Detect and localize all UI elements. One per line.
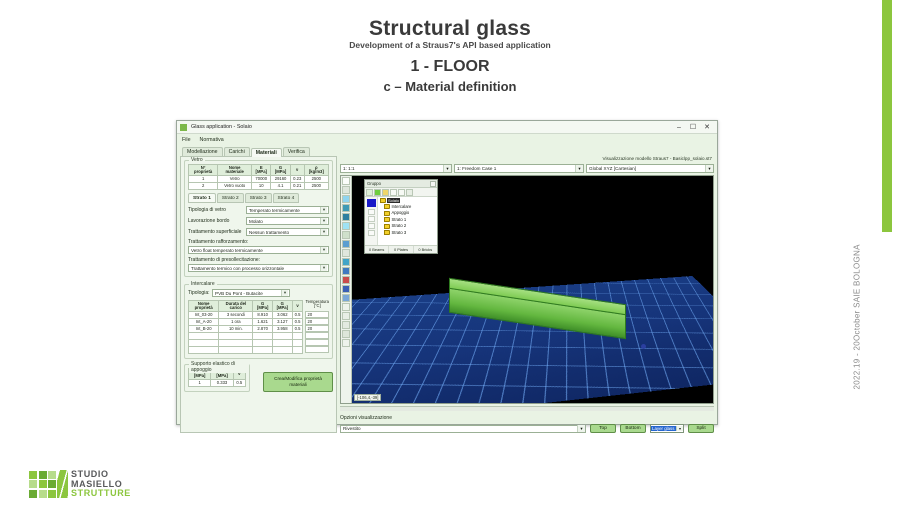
table-row[interactable]: 10.3330.5 [189, 380, 246, 387]
close-button[interactable]: ✕ [700, 122, 714, 133]
interlayer-group: Intercalare Tipologia: PVB Du Pont - But… [184, 284, 333, 359]
zoom-icon[interactable] [342, 312, 350, 320]
table-row[interactable]: 1Vetro70000291600.232500 [189, 176, 329, 183]
interlayer-cell-empty[interactable] [272, 347, 292, 354]
temperature-cell[interactable]: 20 [305, 311, 329, 318]
interlayer-cell-empty[interactable] [292, 333, 303, 340]
interlayer-cell-empty[interactable] [272, 333, 292, 340]
temperature-cell-empty[interactable] [305, 332, 329, 339]
refresh-icon[interactable] [374, 189, 381, 196]
glass-field-2-value: Nessun trattamento [249, 230, 320, 235]
page-subtitle: Development of a Straus7's API based app… [0, 40, 900, 50]
glass-field-3-value: Vetro float temperato termicamente [191, 248, 320, 253]
coordinate-system-combo[interactable]: Global XYZ [Cartesian] ▾ [586, 164, 714, 173]
interlayer-cell-empty[interactable] [292, 340, 303, 347]
view-icon[interactable] [342, 339, 350, 347]
layer-tab-1[interactable]: Strato 1 [188, 193, 216, 203]
interlayer-header-3: G[MPa] [272, 301, 292, 312]
glass-group-legend: Vetro [189, 157, 205, 163]
coordinate-system-value: Global XYZ [Cartesian] [589, 166, 705, 171]
table-row[interactable]: Int_A-201 ora1.6213.1270.5 [189, 319, 303, 326]
interlayer-header-0: Nomeproprietà [189, 301, 219, 312]
layer-select-value: Layer glass [651, 426, 676, 431]
support-group: Supporto elastico di appoggio E[MPa]G[MP… [184, 364, 250, 392]
glass-header-1: Nomemateriale [218, 165, 252, 176]
glass-header-3: G[MPa] [271, 165, 290, 176]
beam-icon[interactable] [342, 195, 350, 203]
chevron-down-icon[interactable]: ▾ [705, 165, 713, 172]
interlayer-cell[interactable]: 1 ora [219, 319, 253, 326]
materials-panel: Vetro N°proprietàNomematerialeE[MPa]G[MP… [180, 156, 337, 433]
expand-icon[interactable] [368, 223, 375, 229]
interlayer-cell[interactable]: 3.958 [272, 326, 292, 333]
glass-cell[interactable]: Vetro [218, 176, 252, 183]
glass-field-4-label: Trattamento di presollecitazione: [188, 257, 329, 263]
glass-cell[interactable]: 2500 [304, 176, 328, 183]
table-row-empty[interactable] [189, 347, 303, 354]
viewer-toolbar: 1: 1:1 ▾ 1: Freedom Case 1 ▾ Global XYZ … [340, 164, 714, 173]
view-case-value: 1: 1:1 [343, 166, 443, 171]
interlayer-cell-empty[interactable] [253, 333, 273, 340]
interlayer-cell[interactable]: 1.621 [253, 319, 273, 326]
display-options-combo[interactable]: Rivestito ▾ [340, 425, 586, 433]
logo-line-3: STRUTTURE [71, 489, 131, 499]
model-caption: Visualizzazione modello Straus7 - Basicl… [340, 156, 714, 162]
glass-field-3-combo[interactable]: Vetro float temperato termicamente▾ [188, 246, 329, 254]
glass-field-0-row: Tipologia di vetroTemperato termicamente… [188, 206, 329, 214]
temperature-cell-empty[interactable] [305, 339, 329, 346]
folder-icon [384, 204, 390, 209]
interlayer-header-1: Durata delcarico [219, 301, 253, 312]
group-icon[interactable] [342, 267, 350, 275]
chevron-down-icon[interactable]: ▾ [320, 218, 327, 224]
interlayer-group-legend: Intercalare [189, 281, 217, 287]
glass-header-2: E[MPa] [252, 165, 271, 176]
chevron-down-icon[interactable]: ▾ [320, 265, 327, 271]
collapse-icon[interactable] [368, 230, 375, 236]
glass-properties-table[interactable]: N°proprietàNomematerialeE[MPa]G[MPa]νρ[k… [188, 164, 329, 190]
top-button[interactable]: Top [590, 424, 616, 433]
tab-carichi[interactable]: Carichi [224, 147, 250, 157]
logo-slash-icon [57, 470, 68, 498]
tree-root[interactable]: Solaio [380, 198, 437, 203]
interlayer-cell[interactable]: 0.5 [292, 326, 303, 333]
logo-grid-icon [29, 471, 56, 498]
beams-count: 0 Beams [365, 246, 389, 253]
link-icon[interactable] [342, 222, 350, 230]
interlayer-type-value: PVB Du Pont - Butacite [215, 291, 281, 296]
chevron-down-icon[interactable]: ▾ [443, 165, 451, 172]
support-cell[interactable]: 0.333 [211, 380, 233, 387]
glass-header-0: N°proprietà [189, 165, 218, 176]
glass-group: Vetro N°proprietàNomematerialeE[MPa]G[MP… [184, 160, 333, 277]
viewport-horizontal-scrollbar[interactable] [340, 406, 714, 411]
main-tabstrip: Modellazione Carichi Materiali Verifica [177, 145, 717, 156]
interlayer-table[interactable]: NomeproprietàDurata delcaricoG[MPa]G[MPa… [188, 300, 303, 354]
group-tree-status: 0 Beams 0 Plates 0 Bricks [365, 245, 437, 253]
glass-field-1-value: Molato [249, 219, 320, 224]
display-options-value: Rivestito [343, 426, 577, 431]
glass-field-4-block: Trattamento di presollecitazione:Trattam… [188, 257, 329, 272]
glass-field-1-row: Lavorazione bordoMolato▾ [188, 217, 329, 225]
temperature-cell-empty[interactable] [305, 346, 329, 353]
pan-icon[interactable] [342, 321, 350, 329]
chevron-down-icon[interactable]: ▾ [320, 207, 327, 213]
interlayer-header-2: G[MPa] [253, 301, 273, 312]
group-tree-items: Solaio IntercalareAppoggioStrato 1Strato… [378, 197, 437, 245]
application-window: Glass application - Solaio – ☐ ✕ File No… [176, 120, 718, 425]
node-marker [641, 344, 646, 349]
table-row[interactable]: 2Vetro vuoto104.10.212500 [189, 183, 329, 190]
group-color-swatch[interactable] [367, 199, 376, 207]
temperature-cell[interactable]: 20 [305, 325, 329, 332]
glass-field-3-block: Trattamento rafforzamento:Vetro float te… [188, 239, 329, 254]
maximize-button[interactable]: ☐ [686, 122, 700, 133]
folder-icon [384, 217, 390, 222]
glass-cell[interactable]: 0.23 [290, 176, 304, 183]
event-caption: 2022.19 - 20October SAIE BOLOGNA [853, 220, 862, 390]
glass-field-4-combo[interactable]: Trattamento termico con processo orizzon… [188, 264, 329, 272]
menu-item-file[interactable]: File [182, 137, 191, 143]
viewer-panel: Visualizzazione modello Straus7 - Basicl… [340, 156, 714, 433]
group-tree-window[interactable]: Gruppo [364, 179, 438, 254]
mesh-icon[interactable] [342, 240, 350, 248]
interlayer-cell-empty[interactable] [253, 347, 273, 354]
glass-field-0-value: Temperato termicamente [249, 208, 320, 213]
display-options-label: Opzioni visualizzazione [340, 415, 714, 421]
subsection-title: c – Material definition [0, 79, 900, 94]
glass-field-2-combo[interactable]: Nessun trattamento▾ [246, 228, 329, 236]
tree-item-4[interactable]: Strato 3 [380, 230, 437, 237]
temperature-cell[interactable]: 20 [305, 318, 329, 325]
check-all-icon[interactable] [390, 189, 397, 196]
model-viewport[interactable]: Gruppo [352, 176, 713, 403]
invert-icon[interactable] [406, 189, 413, 196]
chevron-down-icon[interactable]: ▾ [281, 290, 288, 296]
glass-field-1-combo[interactable]: Molato▾ [246, 217, 329, 225]
node-icon[interactable] [342, 186, 350, 194]
interlayer-cell[interactable]: 8.910 [253, 312, 273, 319]
glass-cell[interactable]: 2 [189, 183, 218, 190]
viewport-container: Gruppo [340, 175, 714, 404]
glass-cell[interactable]: 0.21 [290, 183, 304, 190]
glass-field-2-row: Trattamento superficialeNessun trattamen… [188, 228, 329, 236]
freedom-case-combo[interactable]: 1: Freedom Case 1 ▾ [454, 164, 584, 173]
interlayer-cell[interactable]: Int_B-20 [189, 326, 219, 333]
new-group-icon[interactable] [366, 189, 373, 196]
tab-materiali[interactable]: Materiali [251, 148, 282, 158]
group-tree-toolbar [365, 188, 437, 197]
load-icon[interactable] [342, 258, 350, 266]
glass-field-4-value: Trattamento termico con processo orizzon… [191, 266, 320, 271]
tab-verifica[interactable]: Verifica [283, 147, 310, 157]
studio-masiello-logo: STUDIO MASIELLO STRUTTURE [29, 470, 131, 499]
create-edit-materials-button[interactable]: Crea/Modifica proprietà materiali [263, 372, 333, 392]
minimize-button[interactable]: – [672, 122, 686, 133]
glass-cell[interactable]: 70000 [252, 176, 271, 183]
temperature-column: Temperatura [°C] 202020 [305, 300, 329, 353]
glass-fields: Tipologia di vetroTemperato termicamente… [188, 206, 329, 272]
table-row-empty[interactable] [189, 333, 303, 340]
layer-tab-4[interactable]: Strato 4 [273, 193, 300, 203]
support-cell[interactable]: 1 [189, 380, 211, 387]
glass-cell[interactable]: 1 [189, 176, 218, 183]
plates-count: 0 Plates [389, 246, 413, 253]
section-title: 1 - FLOOR [0, 58, 900, 76]
window-titlebar[interactable]: Glass application - Solaio – ☐ ✕ [177, 121, 717, 134]
glass-cell[interactable]: 4.1 [271, 183, 290, 190]
app-icon [180, 124, 187, 131]
close-icon[interactable] [430, 181, 436, 187]
interlayer-cell-empty[interactable] [189, 333, 219, 340]
group-tree-titlebar: Gruppo [365, 180, 437, 188]
glass-cell[interactable]: 10 [252, 183, 271, 190]
edit-icon[interactable] [382, 189, 389, 196]
bottom-button[interactable]: Bottom [620, 424, 646, 433]
layer-tab-2[interactable]: Strato 2 [217, 193, 244, 203]
interlayer-cell[interactable]: 0.5 [292, 319, 303, 326]
interlayer-type-combo[interactable]: PVB Du Pont - Butacite ▾ [212, 289, 290, 297]
glass-field-2-label: Trattamento superficiale [188, 229, 246, 235]
interlayer-cell[interactable]: 2.870 [253, 326, 273, 333]
glass-field-0-combo[interactable]: Temperato termicamente▾ [246, 206, 329, 214]
interlayer-cell-empty[interactable] [219, 333, 253, 340]
interlayer-cell[interactable]: 3.062 [272, 312, 292, 319]
table-row-empty[interactable] [189, 340, 303, 347]
interlayer-cell[interactable]: 10 min. [219, 326, 253, 333]
view-case-combo[interactable]: 1: 1:1 ▾ [340, 164, 452, 173]
interlayer-type-label: Tipologia: [188, 290, 212, 296]
interlayer-cell-empty[interactable] [189, 340, 219, 347]
tree-item-label: Strato 3 [392, 230, 407, 237]
freedom-case-value: 1: Freedom Case 1 [457, 166, 575, 171]
chevron-down-icon[interactable]: ▾ [320, 229, 327, 235]
coordinate-readout: [-106,4,-39] [354, 394, 381, 401]
table-row[interactable]: Int_03-203 secondi8.9103.0620.5 [189, 312, 303, 319]
results-icon[interactable] [342, 285, 350, 293]
select-icon[interactable] [342, 177, 350, 185]
layer-tab-3[interactable]: Strato 3 [245, 193, 272, 203]
glass-field-1-label: Lavorazione bordo [188, 218, 246, 224]
interlayer-cell-empty[interactable] [292, 347, 303, 354]
folder-icon [384, 211, 390, 216]
layer-tabstrip: Strato 1 Strato 2 Strato 3 Strato 4 [188, 193, 329, 203]
temperature-header: Temperatura [°C] [305, 300, 329, 311]
chevron-down-icon[interactable]: ▾ [676, 426, 683, 431]
interlayer-cell[interactable]: Int_03-20 [189, 312, 219, 319]
brick-icon[interactable] [342, 213, 350, 221]
glass-header-5: ρ[kg/m3] [304, 165, 328, 176]
move-down-icon[interactable] [368, 216, 375, 222]
tree-root-label: Solaio [387, 198, 400, 203]
glass-field-0-label: Tipologia di vetro [188, 207, 246, 213]
interlayer-cell[interactable]: Int_A-20 [189, 319, 219, 326]
grid-icon[interactable] [342, 303, 350, 311]
interlayer-cell-empty[interactable] [253, 340, 273, 347]
layer-select-combo[interactable]: Layer glass ▾ [650, 424, 684, 433]
folder-icon [384, 230, 390, 235]
table-row[interactable]: Int_B-2010 min.2.8703.9580.5 [189, 326, 303, 333]
interlayer-cell-empty[interactable] [219, 347, 253, 354]
restraint-icon[interactable] [342, 249, 350, 257]
property-icon[interactable] [342, 276, 350, 284]
viewport-tool-strip [341, 176, 352, 403]
move-up-icon[interactable] [368, 209, 375, 215]
support-cell[interactable]: 0.5 [233, 380, 245, 387]
interlayer-cell-empty[interactable] [219, 340, 253, 347]
interlayer-header-4: ν [292, 301, 303, 312]
glass-field-3-label: Trattamento rafforzamento: [188, 239, 329, 245]
group-tree-title: Gruppo [367, 181, 381, 186]
folder-icon [384, 224, 390, 229]
interlayer-cell-empty[interactable] [189, 347, 219, 354]
chevron-down-icon[interactable]: ▾ [320, 247, 327, 253]
menu-item-normativa[interactable]: Normativa [200, 137, 224, 143]
group-tree-body: Solaio IntercalareAppoggioStrato 1Strato… [365, 197, 437, 245]
menu-bar: File Normativa [177, 134, 717, 145]
interlayer-cell[interactable]: 0.5 [292, 312, 303, 319]
glass-cell[interactable]: 2500 [304, 183, 328, 190]
glass-header-4: ν [290, 165, 304, 176]
rotate-icon[interactable] [342, 330, 350, 338]
accent-bar [882, 0, 892, 232]
chevron-down-icon[interactable]: ▾ [575, 165, 583, 172]
split-button[interactable]: Split [688, 424, 714, 433]
contour-icon[interactable] [342, 294, 350, 302]
support-group-legend: Supporto elastico di appoggio [189, 361, 249, 373]
attribute-icon[interactable] [342, 231, 350, 239]
window-title: Glass application - Solaio [191, 124, 672, 130]
group-color-strip [365, 197, 378, 245]
plate-icon[interactable] [342, 204, 350, 212]
interlayer-cell[interactable]: 3.127 [272, 319, 292, 326]
tab-modellazione[interactable]: Modellazione [182, 147, 223, 157]
page-title: Structural glass [0, 17, 900, 41]
interlayer-cell[interactable]: 3 secondi [219, 312, 253, 319]
chevron-down-icon[interactable]: ▾ [577, 425, 585, 432]
uncheck-all-icon[interactable] [398, 189, 405, 196]
interlayer-cell-empty[interactable] [272, 340, 292, 347]
glass-cell[interactable]: Vetro vuoto [218, 183, 252, 190]
bricks-count: 0 Bricks [414, 246, 437, 253]
glass-cell[interactable]: 29160 [271, 176, 290, 183]
folder-icon [380, 198, 386, 203]
